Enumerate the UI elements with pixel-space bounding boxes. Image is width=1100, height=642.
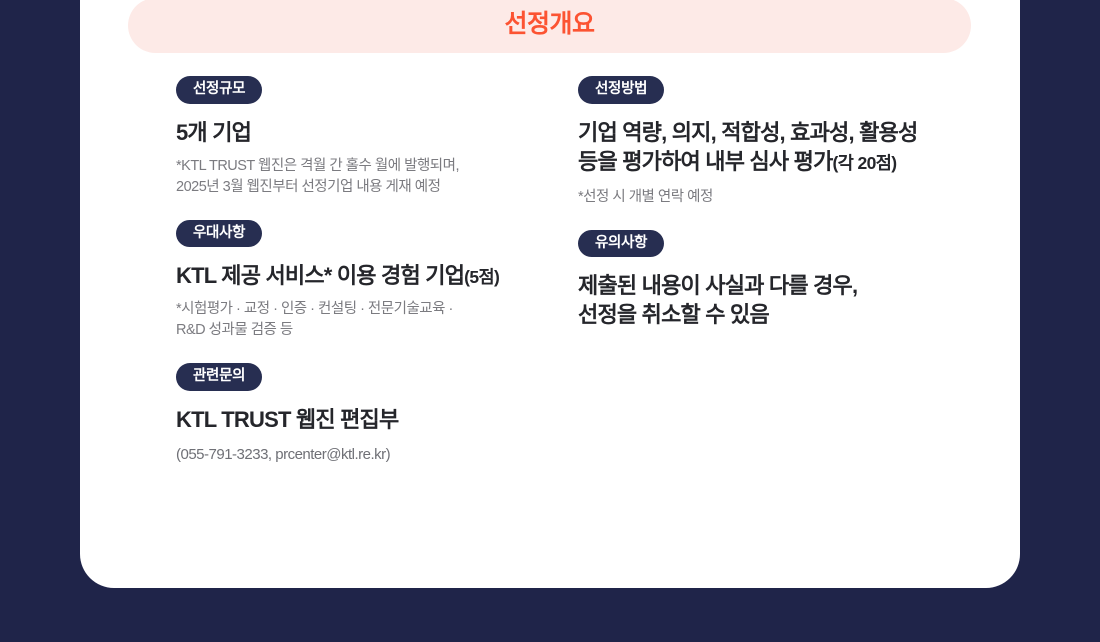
headline-cautions: 제출된 내용이 사실과 다를 경우, 선정을 취소할 수 있음 <box>578 271 978 329</box>
contact-details: (055-791-3233, prcenter@ktl.re.kr) <box>176 444 576 465</box>
badge-label-contact: 관련문의 <box>176 363 262 391</box>
headline-preferential-terms: KTL 제공 서비스* 이용 경험 기업(5점) <box>176 261 576 290</box>
headline-selection-method-score: (각 20점) <box>833 153 897 173</box>
badge-label-cautions: 유의사항 <box>578 230 664 258</box>
headline-preferential-terms-main: KTL 제공 서비스* 이용 경험 기업 <box>176 263 464 288</box>
headline-contact: KTL TRUST 웹진 편집부 <box>176 405 576 434</box>
page-title: 선정개요 <box>504 12 594 39</box>
note-preferential-terms: *시험평가 · 교정 · 인증 · 컨설팅 · 전문기술교육 · R&D 성과물… <box>176 299 576 341</box>
info-block-selection-scale: 선정규모 5개 기업 *KTL TRUST 웹진은 격월 간 홀수 월에 발행되… <box>176 76 576 198</box>
info-block-preferential-terms: 우대사항 KTL 제공 서비스* 이용 경험 기업(5점) *시험평가 · 교정… <box>176 220 576 342</box>
content-card: 선정개요 선정규모 5개 기업 *KTL TRUST 웹진은 격월 간 홀수 월… <box>80 0 1020 588</box>
headline-preferential-terms-score: (5점) <box>464 267 499 287</box>
two-column-layout: 선정규모 5개 기업 *KTL TRUST 웹진은 격월 간 홀수 월에 발행되… <box>80 76 1020 487</box>
badge-label-preferential-terms: 우대사항 <box>176 220 262 248</box>
headline-selection-method: 기업 역량, 의지, 적합성, 효과성, 활용성 등을 평가하여 내부 심사 평… <box>578 118 978 176</box>
right-column: 선정방법 기업 역량, 의지, 적합성, 효과성, 활용성 등을 평가하여 내부… <box>578 76 978 487</box>
headline-selection-scale: 5개 기업 <box>176 118 576 147</box>
info-block-cautions: 유의사항 제출된 내용이 사실과 다를 경우, 선정을 취소할 수 있음 <box>578 230 978 330</box>
info-block-selection-method: 선정방법 기업 역량, 의지, 적합성, 효과성, 활용성 등을 평가하여 내부… <box>578 76 978 208</box>
badge-label-selection-scale: 선정규모 <box>176 76 262 104</box>
note-selection-method: *선정 시 개별 연락 예정 <box>578 187 978 208</box>
badge-label-selection-method: 선정방법 <box>578 76 664 104</box>
section-header-banner: 선정개요 <box>128 0 971 53</box>
left-column: 선정규모 5개 기업 *KTL TRUST 웹진은 격월 간 홀수 월에 발행되… <box>176 76 576 487</box>
info-block-contact: 관련문의 KTL TRUST 웹진 편집부 (055-791-3233, prc… <box>176 363 576 465</box>
note-selection-scale: *KTL TRUST 웹진은 격월 간 홀수 월에 발행되며, 2025년 3월… <box>176 156 576 198</box>
page-root: { "colors": { "page_background": "#1f244… <box>0 0 1100 642</box>
